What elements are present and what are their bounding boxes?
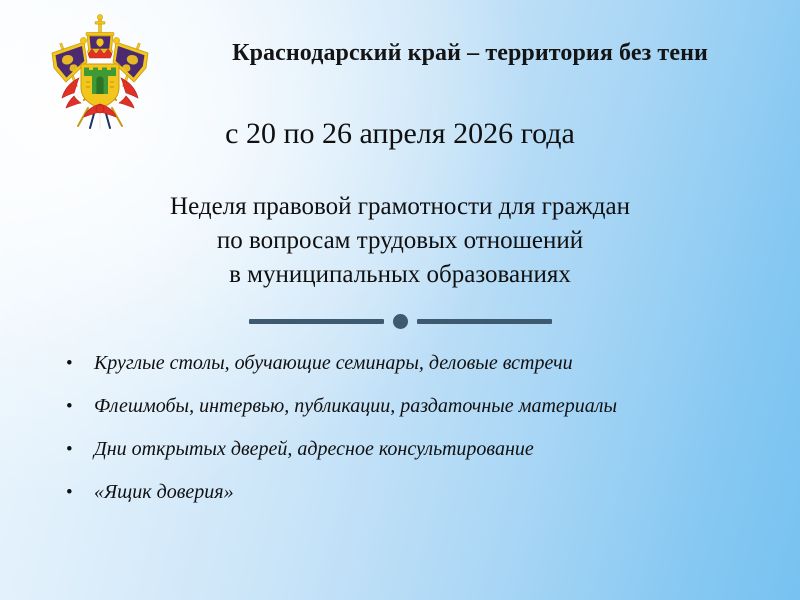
page-title: Краснодарский край – территория без тени (160, 40, 780, 67)
list-item: • Круглые столы, обучающие семинары, дел… (66, 352, 766, 395)
list-item: • «Ящик доверия» (66, 481, 766, 524)
slide-canvas: Краснодарский край – территория без тени… (0, 0, 800, 600)
list-item-label: Круглые столы, обучающие семинары, делов… (94, 352, 766, 375)
subtitle-line-2: по вопросам трудовых отношений (0, 224, 800, 258)
list-item-label: Дни открытых дверей, адресное консультир… (94, 438, 766, 461)
subtitle-line-1: Неделя правовой грамотности для граждан (0, 190, 800, 224)
bullet-point-icon: • (66, 483, 94, 502)
event-date-range: с 20 по 26 апреля 2026 года (0, 117, 800, 151)
list-item: • Флешмобы, интервью, публикации, раздат… (66, 395, 766, 438)
divider-bar-left (249, 319, 384, 324)
bullet-point-icon: • (66, 354, 94, 373)
bullet-point-icon: • (66, 397, 94, 416)
activities-list: • Круглые столы, обучающие семинары, дел… (66, 352, 766, 524)
divider-dot-icon (393, 314, 408, 329)
bullet-point-icon: • (66, 440, 94, 459)
section-divider (0, 314, 800, 329)
list-item: • Дни открытых дверей, адресное консульт… (66, 438, 766, 481)
list-item-label: Флешмобы, интервью, публикации, раздаточ… (94, 395, 766, 418)
krasnodar-krai-coat-of-arms-icon (40, 12, 160, 132)
subtitle-line-3: в муниципальных образованиях (0, 258, 800, 292)
list-item-label: «Ящик доверия» (94, 481, 766, 504)
divider-bar-right (417, 319, 552, 324)
event-subtitle: Неделя правовой грамотности для граждан … (0, 190, 800, 292)
